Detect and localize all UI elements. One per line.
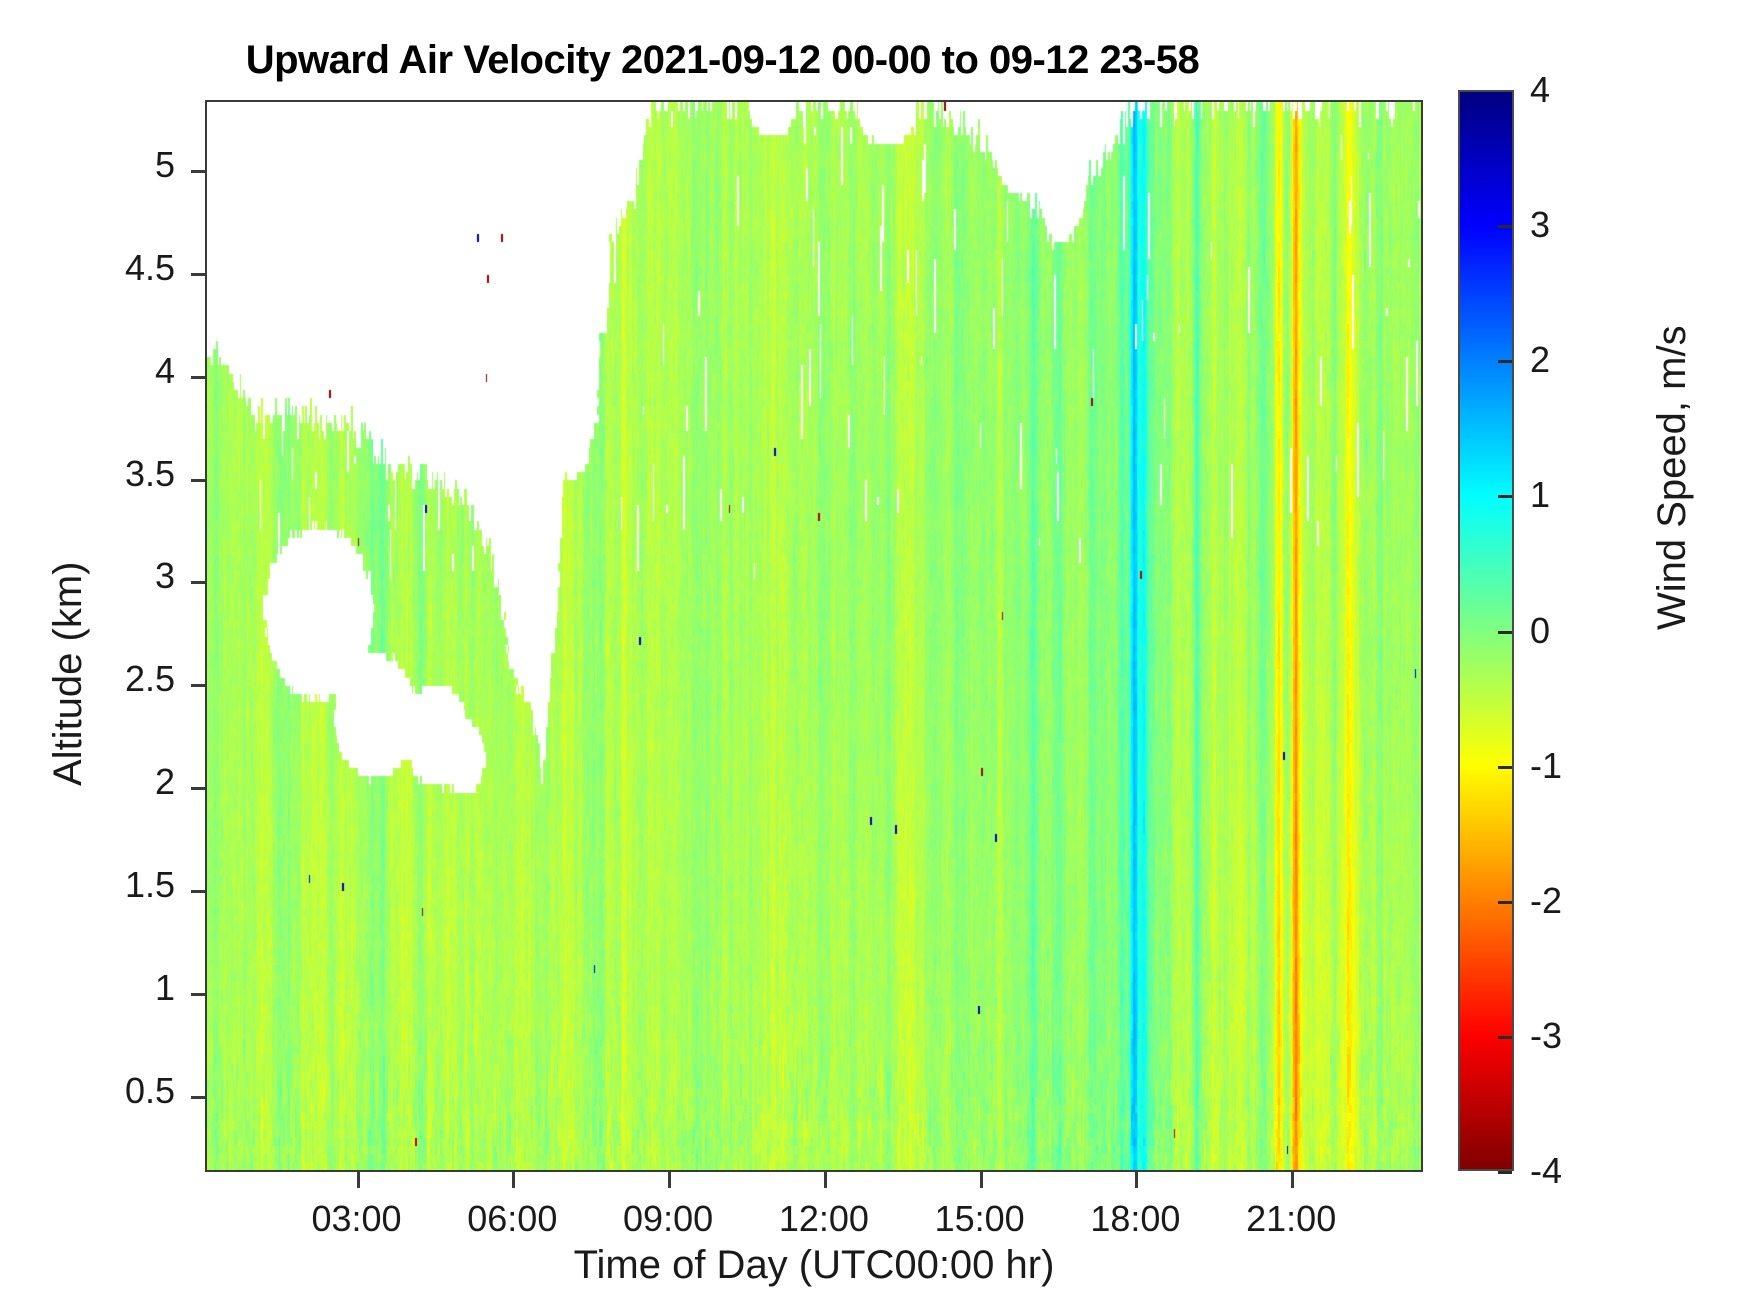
colorbar-tick-label: 0 [1530, 610, 1550, 652]
x-tick-label: 09:00 [623, 1198, 713, 1240]
colorbar-tick-mark [1498, 495, 1512, 498]
x-tick-mark [1291, 1172, 1294, 1188]
colorbar-tick-label: -4 [1530, 1150, 1562, 1192]
x-tick-mark [357, 1172, 360, 1188]
colorbar-tick-mark [1498, 901, 1512, 904]
y-tick-label: 4 [0, 350, 175, 392]
colorbar-tick-label: -2 [1530, 880, 1562, 922]
x-tick-label: 21:00 [1246, 1198, 1336, 1240]
y-tick-mark [191, 993, 205, 996]
x-tick-mark [980, 1172, 983, 1188]
y-tick-mark [191, 787, 205, 790]
y-tick-mark [191, 890, 205, 893]
y-tick-mark [191, 376, 205, 379]
heatmap-image [207, 102, 1421, 1170]
colorbar-tick-mark [1498, 1171, 1512, 1174]
colorbar-tick-label: 1 [1530, 474, 1550, 516]
plot-area[interactable] [205, 100, 1423, 1172]
colorbar-tick-mark [1498, 766, 1512, 769]
colorbar-tick-label: -3 [1530, 1015, 1562, 1057]
x-tick-mark [668, 1172, 671, 1188]
x-tick-mark [1135, 1172, 1138, 1188]
colorbar-tick-label: -1 [1530, 745, 1562, 787]
y-tick-label: 4.5 [0, 247, 175, 289]
x-tick-mark [824, 1172, 827, 1188]
y-tick-label: 1 [0, 967, 175, 1009]
colorbar-tick-mark [1498, 225, 1512, 228]
y-tick-mark [191, 684, 205, 687]
colorbar-tick-mark [1498, 1036, 1512, 1039]
figure-canvas: Upward Air Velocity 2021-09-12 00-00 to … [0, 0, 1750, 1313]
y-tick-label: 3.5 [0, 453, 175, 495]
y-tick-label: 5 [0, 144, 175, 186]
x-tick-label: 18:00 [1090, 1198, 1180, 1240]
y-tick-mark [191, 170, 205, 173]
colorbar-label: Wind Speed, m/s [1650, 325, 1695, 630]
colorbar-tick-mark [1498, 360, 1512, 363]
y-tick-mark [191, 479, 205, 482]
x-tick-label: 12:00 [779, 1198, 869, 1240]
y-tick-mark [191, 581, 205, 584]
x-tick-label: 06:00 [467, 1198, 557, 1240]
x-axis-label: Time of Day (UTC00:00 hr) [205, 1243, 1423, 1288]
x-tick-mark [512, 1172, 515, 1188]
y-tick-mark [191, 1096, 205, 1099]
y-tick-mark [191, 273, 205, 276]
x-tick-label: 15:00 [935, 1198, 1025, 1240]
y-axis-label: Altitude (km) [46, 562, 91, 787]
y-tick-label: 0.5 [0, 1070, 175, 1112]
y-tick-label: 1.5 [0, 864, 175, 906]
colorbar-tick-mark [1498, 631, 1512, 634]
x-tick-label: 03:00 [311, 1198, 401, 1240]
colorbar-tick-label: 2 [1530, 339, 1550, 381]
colorbar-tick-label: 4 [1530, 69, 1550, 111]
colorbar-tick-label: 3 [1530, 204, 1550, 246]
chart-title: Upward Air Velocity 2021-09-12 00-00 to … [0, 38, 1445, 83]
